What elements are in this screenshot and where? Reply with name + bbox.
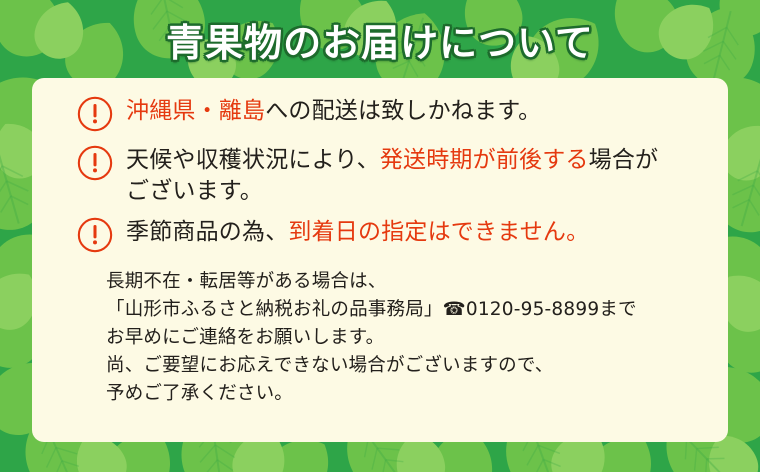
page-title: 青果物のお届けについて — [166, 12, 594, 67]
notice-item: 季節商品の為、到着日の指定はできません。 — [52, 215, 708, 254]
notice-item: 沖縄県・離島への配送は致しかねます。 — [52, 94, 708, 133]
notice-text: 天候や収穫状況により、発送時期が前後する場合が ございます。 — [126, 143, 658, 207]
notice-text-normal: ございます。 — [126, 178, 263, 203]
delivery-notice-banner: 青果物のお届けについて 沖縄県・離島への配送は致しかねます。 — [0, 0, 760, 472]
warning-exclamation-icon — [76, 216, 114, 254]
warning-exclamation-icon — [76, 95, 114, 133]
notice-text: 沖縄県・離島への配送は致しかねます。 — [126, 94, 541, 127]
footnote-line: 尚、ご要望にお応えできない場合がございますので、 — [106, 352, 708, 380]
notice-text-emphasis: 到着日の指定はできません。 — [288, 219, 589, 244]
warning-exclamation-icon — [76, 144, 114, 182]
footnote-line: 予めご了承ください。 — [106, 380, 708, 408]
notice-panel: 沖縄県・離島への配送は致しかねます。 天候や収穫状況により、発送時期が前後する場… — [32, 78, 728, 442]
footnote-line-with-telephone-icon: 「山形市ふるさと納税お礼の品事務局」☎0120-95-8899まで — [106, 296, 708, 324]
notice-text-normal: への配送は致しかねます。 — [265, 98, 541, 123]
footnote-line: お早めにご連絡をお願いします。 — [106, 324, 708, 352]
notice-item: 天候や収穫状況により、発送時期が前後する場合が ございます。 — [52, 143, 708, 207]
notice-text-normal: 天候や収穫状況により、 — [126, 147, 380, 172]
notice-text-normal: 季節商品の為、 — [126, 219, 288, 244]
notice-text-emphasis: 発送時期が前後する — [380, 147, 589, 172]
notice-text-normal: 場合が — [589, 147, 659, 172]
banner-title-bar: 青果物のお届けについて — [0, 0, 760, 78]
notice-text-emphasis: 沖縄県・離島 — [126, 98, 265, 123]
notice-text: 季節商品の為、到着日の指定はできません。 — [126, 215, 589, 248]
contact-footnote: 長期不在・転居等がある場合は、 「山形市ふるさと納税お礼の品事務局」☎0120-… — [106, 268, 708, 409]
footnote-line: 長期不在・転居等がある場合は、 — [106, 268, 708, 296]
